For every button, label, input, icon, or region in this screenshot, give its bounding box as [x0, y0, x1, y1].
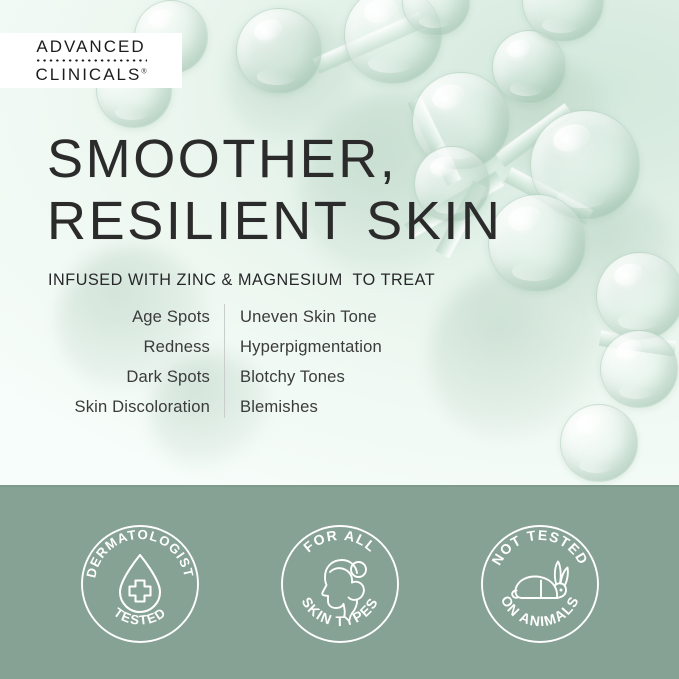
- list-item: Redness: [42, 332, 210, 362]
- logo-clinicals-text: CLINICALS: [35, 65, 141, 84]
- medical-cross-icon: [129, 581, 150, 602]
- rabbit-icon: [512, 562, 568, 599]
- dotted-rule-icon: [35, 58, 147, 63]
- treatment-list-right-column: Uneven Skin Tone Hyperpigmentation Blotc…: [225, 302, 382, 422]
- page-title: SMOOTHER, RESILIENT SKIN: [47, 128, 503, 252]
- list-item: Dark Spots: [42, 362, 210, 392]
- list-item: Blemishes: [240, 392, 382, 422]
- marketing-graphic: ADVANCED CLINICALS® SMOOTHER, RESILIENT …: [0, 0, 679, 679]
- registered-trademark-icon: ®: [141, 68, 146, 75]
- badge-top-text: FOR ALL: [300, 527, 380, 556]
- footer-band: DERMATOLOGIST TESTED: [0, 485, 679, 679]
- subheading: INFUSED WITH ZINC & MAGNESIUM TO TREAT: [48, 271, 435, 290]
- badge-top-text: DERMATOLOGIST: [83, 527, 196, 580]
- logo-word-clinicals: CLINICALS®: [35, 66, 146, 83]
- logo-word-advanced: ADVANCED: [36, 38, 145, 55]
- badge-bottom-text: SKIN TYPES: [298, 594, 381, 629]
- badge-top-text: NOT TESTED: [488, 527, 592, 568]
- list-item: Uneven Skin Tone: [240, 302, 382, 332]
- list-item: Skin Discoloration: [42, 392, 210, 422]
- badge-not-tested-on-animals: NOT TESTED ON ANIMALS: [478, 522, 602, 646]
- badge-row: DERMATOLOGIST TESTED: [0, 487, 679, 679]
- molecule-atom: [236, 8, 322, 94]
- badge-for-all-skin-types: FOR ALL SKIN TYPES: [278, 522, 402, 646]
- droplet-icon: [120, 555, 160, 612]
- molecule-atom: [596, 252, 679, 340]
- molecule-atom: [560, 404, 638, 482]
- badge-bottom-text: TESTED: [111, 604, 169, 627]
- badge-dermatologist-tested: DERMATOLOGIST TESTED: [78, 522, 202, 646]
- list-item: Age Spots: [42, 302, 210, 332]
- list-item: Blotchy Tones: [240, 362, 382, 392]
- treatment-list-left-column: Age Spots Redness Dark Spots Skin Discol…: [42, 302, 224, 422]
- brand-logo: ADVANCED CLINICALS®: [0, 33, 182, 88]
- list-item: Hyperpigmentation: [240, 332, 382, 362]
- molecule-atom: [600, 330, 678, 408]
- treatment-list: Age Spots Redness Dark Spots Skin Discol…: [42, 302, 382, 422]
- molecule-atom: [488, 194, 586, 292]
